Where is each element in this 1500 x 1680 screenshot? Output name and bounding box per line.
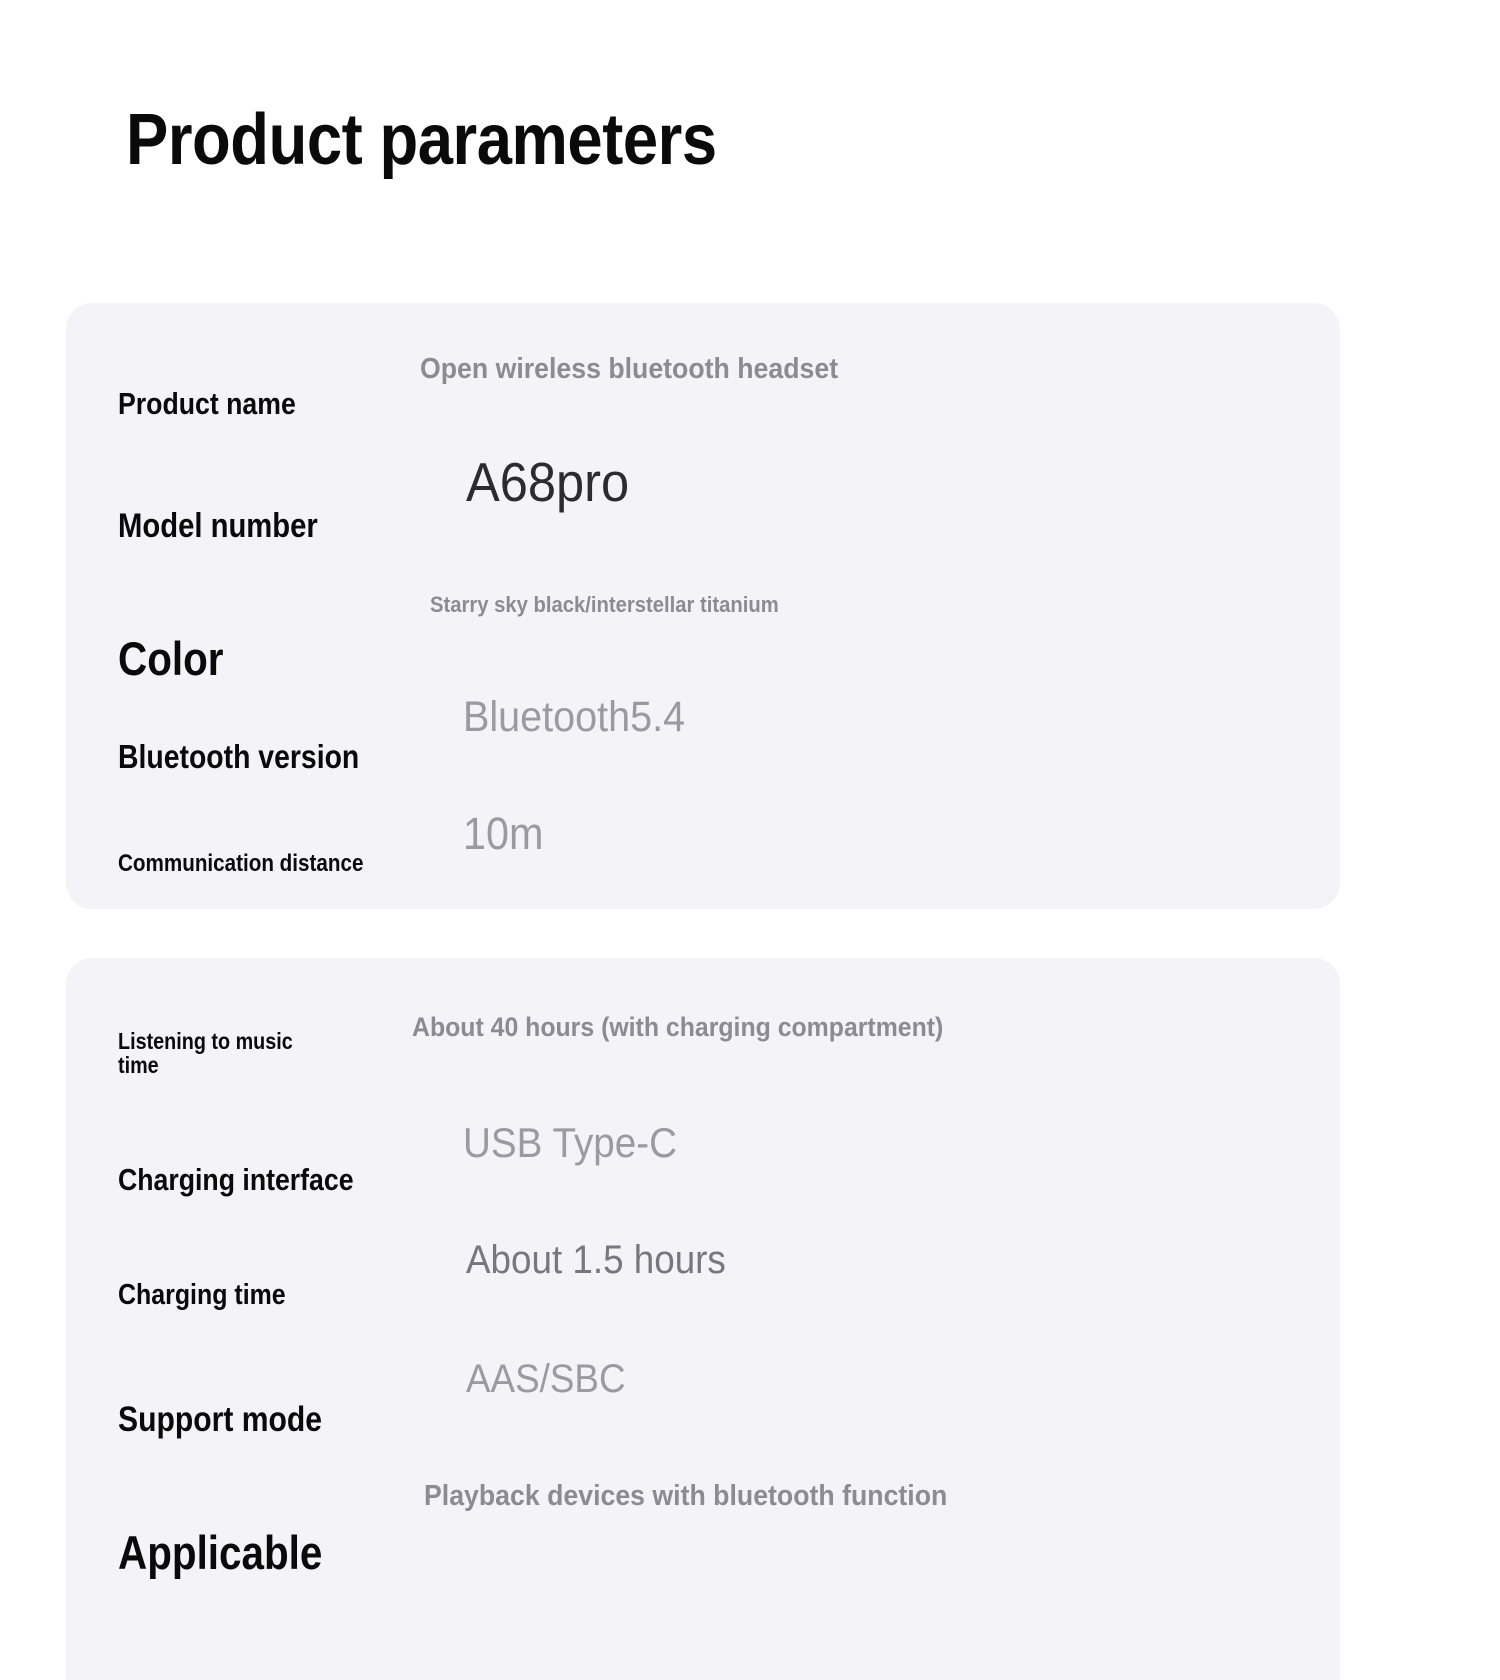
product-parameters-page: Product parameters Product name Open wir… — [0, 0, 1500, 1680]
spec-value-text: Bluetooth5.4 — [463, 693, 685, 742]
spec-label-charging-interface: Charging interface — [118, 1126, 392, 1198]
spec-label-text: Product name — [118, 386, 296, 422]
spec-label-text: Model number — [118, 507, 318, 546]
spec-value-listening-time: About 40 hours (with charging compartmen… — [412, 1012, 990, 1043]
spec-value-charging-time: About 1.5 hours — [466, 1238, 748, 1283]
spec-value-text: About 40 hours (with charging compartmen… — [412, 1012, 943, 1043]
spec-value-color: Starry sky black/interstellar titanium — [430, 592, 809, 618]
spec-value-text: AAS/SBC — [466, 1357, 626, 1402]
spec-value-charging-interface: USB Type-C — [463, 1119, 696, 1167]
page-title: Product parameters — [126, 104, 717, 176]
spec-label-applicable: Applicable — [118, 1470, 356, 1580]
spec-value-text: About 1.5 hours — [466, 1238, 726, 1283]
spec-label-text: Communication distance — [118, 850, 363, 878]
spec-value-text: USB Type-C — [463, 1119, 677, 1167]
spec-value-text: 10m — [463, 808, 544, 860]
spec-label-text: Charging interface — [118, 1162, 354, 1198]
spec-value-text: Playback devices with bluetooth function — [424, 1480, 947, 1513]
spec-label-model-number: Model number — [118, 468, 350, 546]
spec-value-text: A68pro — [466, 450, 629, 514]
spec-label-text: Color — [118, 631, 224, 686]
spec-value-communication-distance: 10m — [463, 808, 551, 860]
spec-label-communication-distance: Communication distance — [118, 822, 403, 878]
spec-value-model-number: A68pro — [466, 450, 643, 514]
spec-label-text: Support mode — [118, 1400, 322, 1440]
spec-label-text: Listening to music time — [118, 1029, 293, 1078]
spec-value-product-name: Open wireless bluetooth headset — [420, 353, 874, 386]
spec-value-bluetooth-version: Bluetooth5.4 — [463, 693, 704, 742]
spec-value-text: Open wireless bluetooth headset — [420, 353, 838, 386]
spec-value-applicable: Playback devices with bluetooth function — [424, 1480, 993, 1513]
spec-label-product-name: Product name — [118, 350, 325, 422]
spec-label-color: Color — [118, 576, 241, 686]
spec-label-charging-time: Charging time — [118, 1246, 313, 1312]
spec-label-bluetooth-version: Bluetooth version — [118, 700, 399, 776]
spec-value-support-mode: AAS/SBC — [466, 1357, 639, 1402]
spec-label-text: Applicable — [118, 1525, 322, 1580]
spec-label-text: Charging time — [118, 1279, 286, 1312]
spec-label-text: Bluetooth version — [118, 738, 359, 776]
spec-label-listening-time: Listening to music time — [118, 1004, 418, 1078]
spec-label-support-mode: Support mode — [118, 1360, 355, 1440]
spec-value-text: Starry sky black/interstellar titanium — [430, 592, 779, 618]
